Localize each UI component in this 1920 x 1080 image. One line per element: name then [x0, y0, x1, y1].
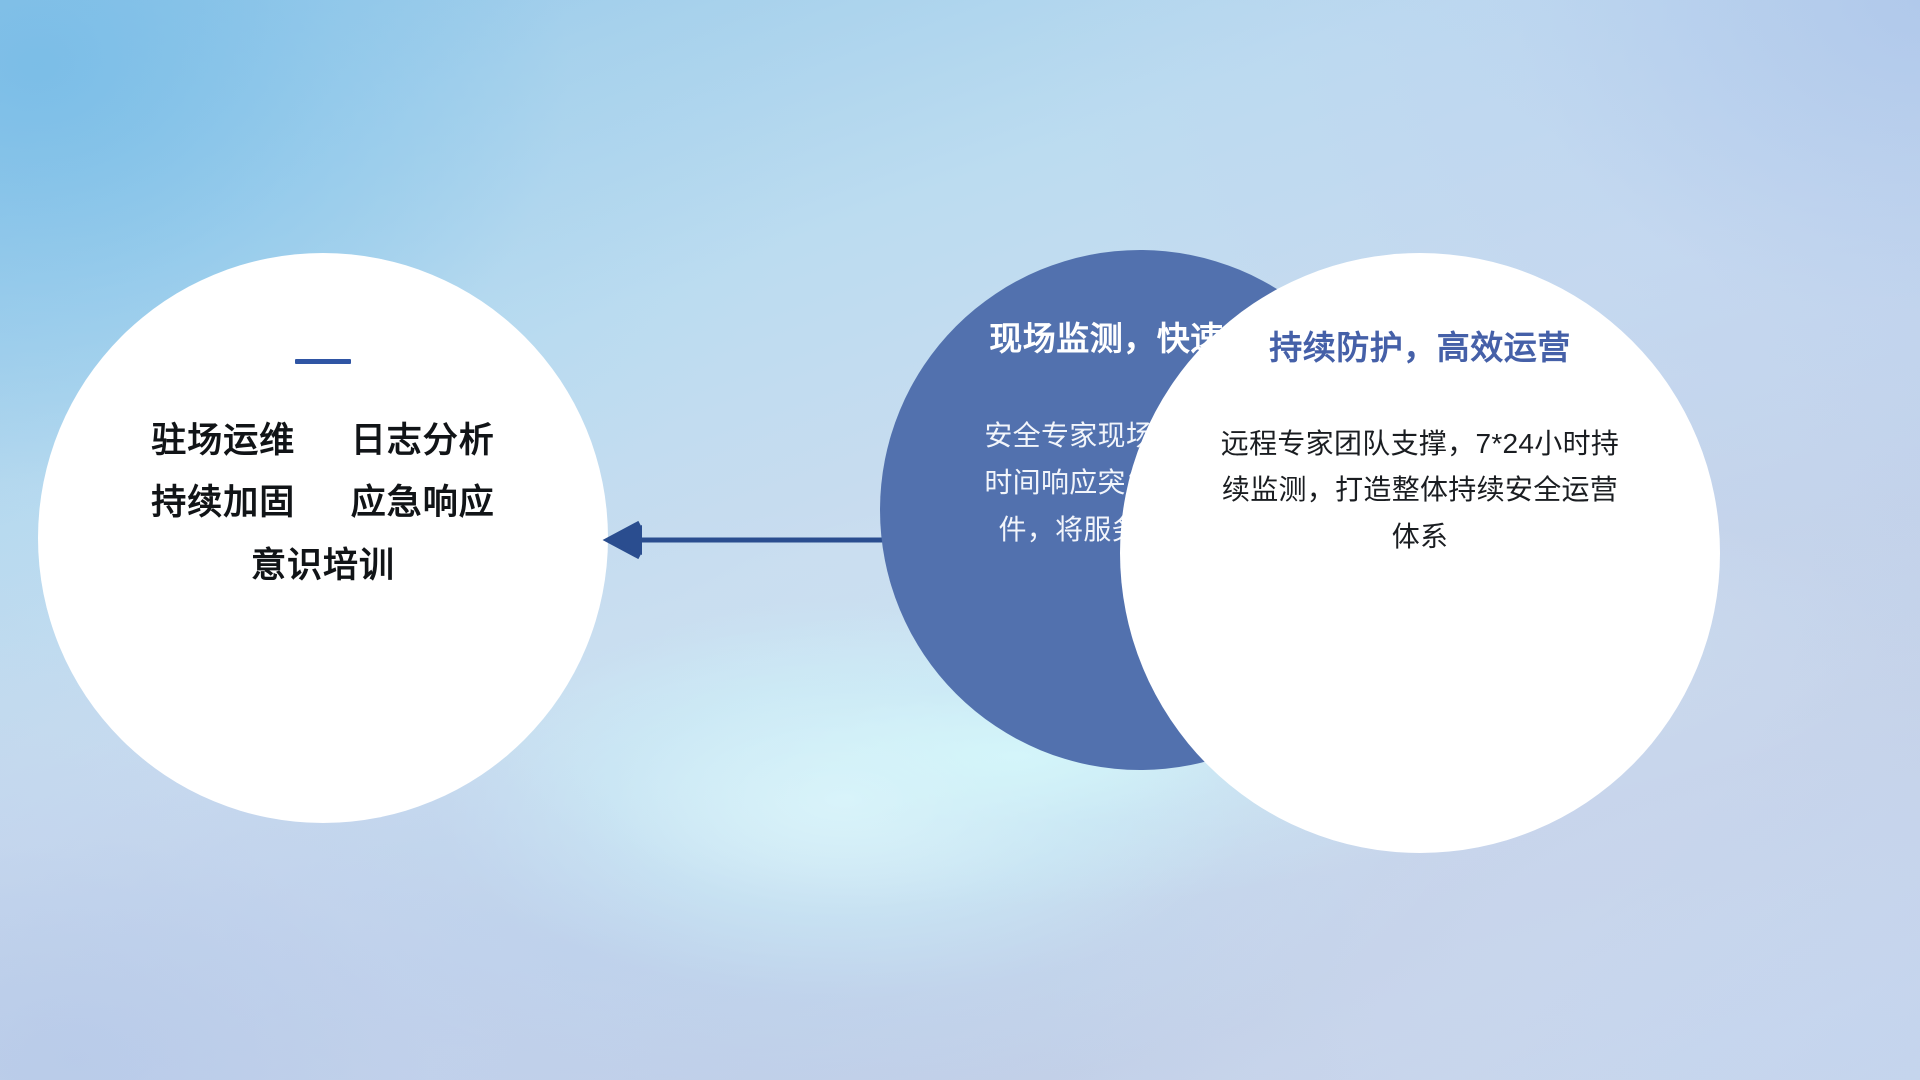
- slide-canvas: 驻场运维 日志分析 持续加固 应急响应 意识培训 现场监测，快速响应 安全专家现…: [0, 0, 1920, 1080]
- skill-label: 意识培训: [251, 546, 395, 585]
- arrow-left-icon: [596, 512, 896, 568]
- divider-bar-icon: [295, 359, 351, 364]
- flow-arrow: [596, 512, 896, 568]
- skills-row-1: 驻场运维 日志分析: [151, 410, 495, 472]
- skills-row-2: 持续加固 应急响应: [151, 472, 495, 534]
- capability-circle-right[interactable]: 持续防护，高效运营 远程专家团队支撑，7*24小时持续监测，打造整体持续安全运营…: [1120, 253, 1720, 853]
- skill-label: 驻场运维: [151, 421, 295, 460]
- capability-circle-left[interactable]: 驻场运维 日志分析 持续加固 应急响应 意识培训: [38, 253, 608, 823]
- skills-list: 驻场运维 日志分析 持续加固 应急响应 意识培训: [151, 410, 495, 597]
- skill-label: 应急响应: [351, 483, 495, 522]
- circle-right-title: 持续防护，高效运营: [1269, 321, 1571, 369]
- circle-right-body: 远程专家团队支撑，7*24小时持续监测，打造整体持续安全运营体系: [1220, 421, 1620, 560]
- skill-label: 日志分析: [351, 421, 495, 460]
- skills-row-3: 意识培训: [151, 535, 495, 597]
- skill-label: 持续加固: [151, 483, 295, 522]
